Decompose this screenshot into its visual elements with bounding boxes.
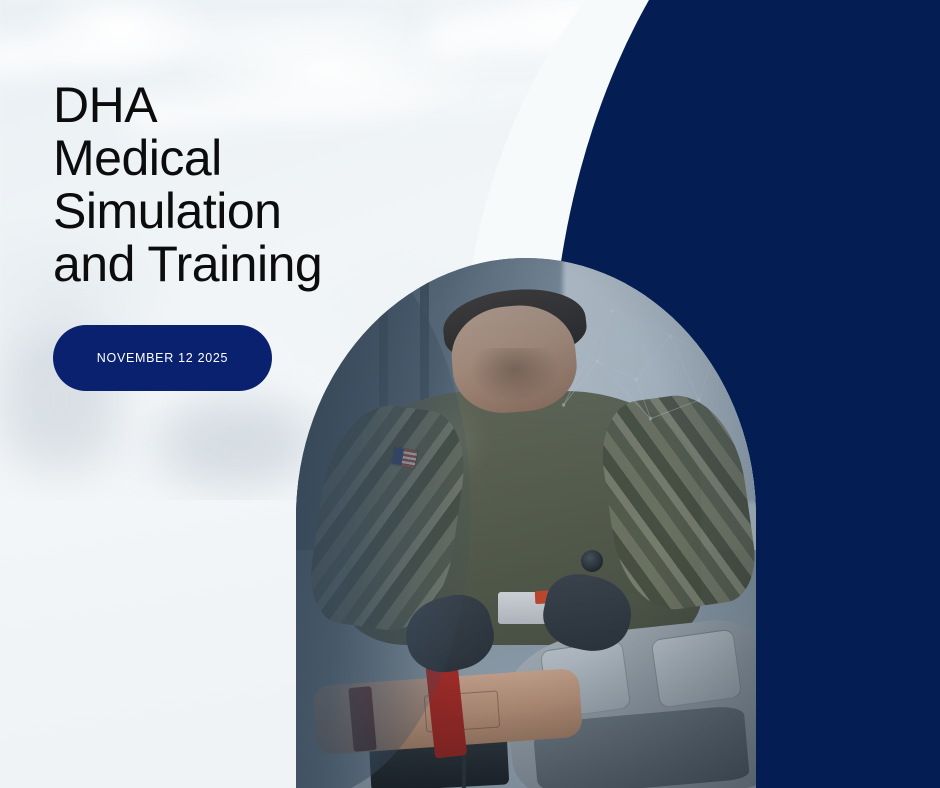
- date-badge[interactable]: NOVEMBER 12 2025: [53, 325, 272, 391]
- main-photo: [296, 258, 756, 788]
- background-soft-shadow: [160, 400, 310, 490]
- title-line-4: and Training: [53, 238, 383, 291]
- date-badge-label: NOVEMBER 12 2025: [97, 351, 228, 365]
- poster-canvas: DHA Medical Simulation and Training NOVE…: [0, 0, 940, 788]
- title-line-1: DHA: [53, 79, 383, 132]
- page-title: DHA Medical Simulation and Training: [53, 79, 383, 291]
- title-line-3: Simulation: [53, 185, 383, 238]
- photo-canvas: [296, 258, 756, 788]
- title-line-2: Medical: [53, 132, 383, 185]
